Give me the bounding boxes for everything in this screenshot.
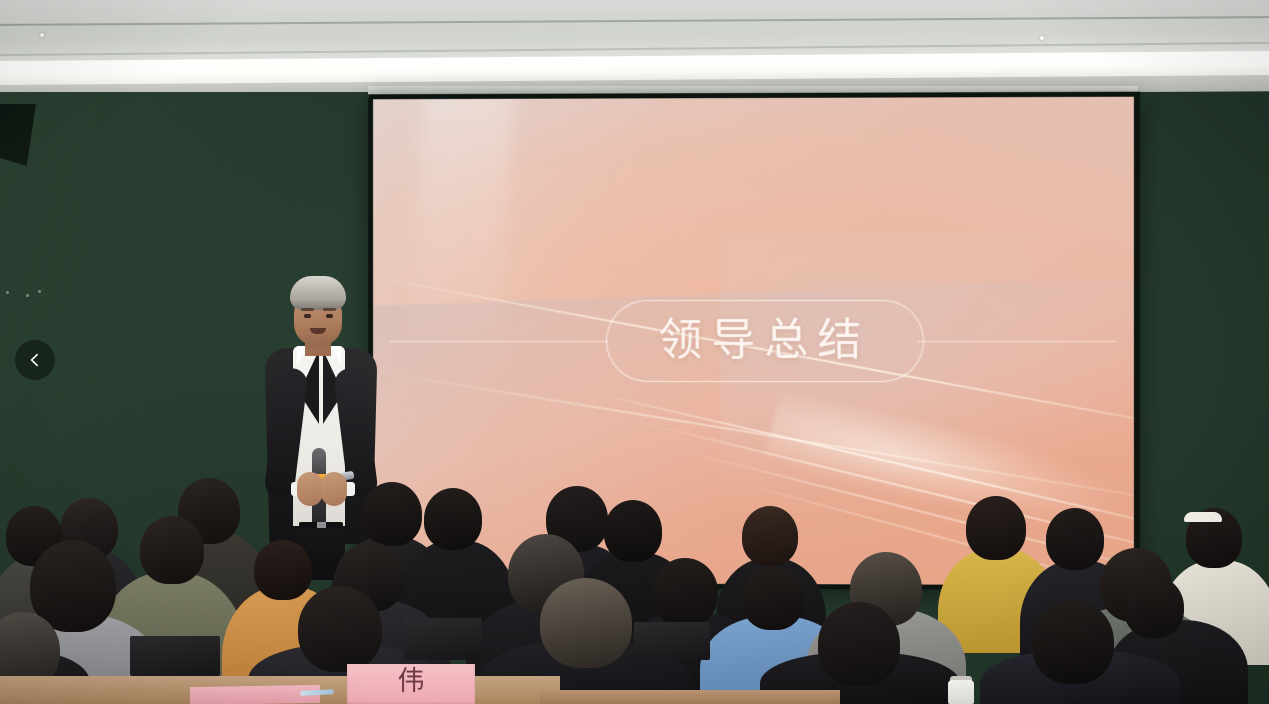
audience-head xyxy=(652,558,718,626)
audience-head xyxy=(424,488,482,550)
presenter-hair xyxy=(290,276,346,310)
water-bottle xyxy=(948,680,974,704)
audience-head xyxy=(298,586,382,672)
ceiling-screw xyxy=(40,33,44,37)
hairband xyxy=(1184,512,1222,522)
name-placard: 伟 xyxy=(347,664,475,704)
audience-head xyxy=(1046,508,1104,570)
ceiling-seam xyxy=(0,16,1269,26)
audience-head xyxy=(966,496,1026,560)
audience-head xyxy=(540,578,632,668)
audience-head xyxy=(362,482,422,546)
audience-head xyxy=(1124,576,1184,638)
presenter-brow xyxy=(301,308,314,311)
laptop xyxy=(130,636,220,676)
ceiling-screw xyxy=(1040,36,1044,40)
audience-head xyxy=(254,540,312,600)
slide-title-rule-left xyxy=(390,341,609,342)
audience-head xyxy=(742,566,804,630)
wall-dot xyxy=(6,291,9,294)
presenter-eye xyxy=(326,314,333,318)
slide-title-rule-right xyxy=(918,341,1117,342)
audience-head xyxy=(140,516,204,584)
presenter-eye xyxy=(304,314,311,318)
audience-head xyxy=(818,602,900,686)
slide-title: 领导总结 xyxy=(658,318,870,364)
previous-image-button[interactable] xyxy=(15,340,55,380)
audience-head xyxy=(742,506,798,566)
presenter-hand-left xyxy=(297,472,323,506)
name-placard-text: 伟 xyxy=(347,668,475,695)
slide-title-pill: 领导总结 xyxy=(606,300,924,382)
wall-dot xyxy=(26,294,29,297)
conference-table xyxy=(540,690,840,704)
photo-viewer: 领导总结 xyxy=(0,0,1269,704)
presenter-hand-right xyxy=(321,472,347,506)
audience-head xyxy=(1032,600,1114,684)
audience-head xyxy=(604,500,662,562)
screen-glare xyxy=(411,97,515,343)
laptop xyxy=(404,618,482,660)
wall-dot xyxy=(38,290,41,293)
presenter-collar-right xyxy=(331,346,341,364)
chevron-left-icon xyxy=(27,352,43,368)
presenter-brow xyxy=(323,308,336,311)
laptop xyxy=(634,622,710,660)
